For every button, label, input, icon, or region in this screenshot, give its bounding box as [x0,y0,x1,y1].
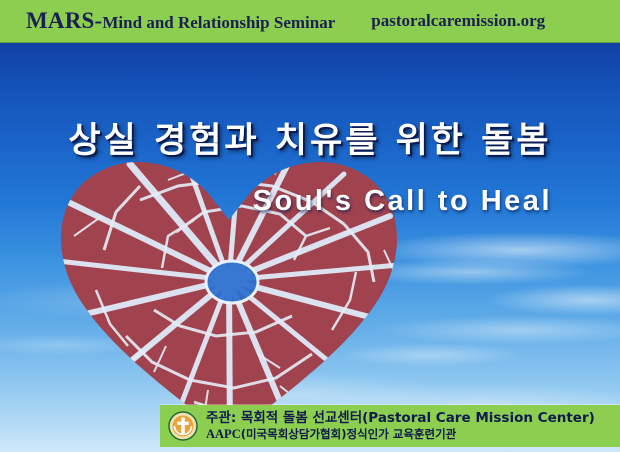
cross-circle-logo-icon [168,411,198,441]
page-subtitle-english: Soul's Call to Heal [0,185,620,218]
brand-title: MARS-Mind and Relationship Seminar [26,8,335,34]
brand-subtitle: Mind and Relationship Seminar [102,13,335,32]
footer-line-accreditation: AAPC(미국목회상담가협회)정식인가 교육훈련기관 [206,427,595,441]
page-title-korean: 상실 경험과 치유를 위한 돌봄 [0,112,620,163]
footer-text-block: 주관: 목회적 돌봄 선교센터(Pastoral Care Mission Ce… [206,411,595,441]
header-bar: MARS-Mind and Relationship Seminar pasto… [0,0,620,43]
presentation-slide: MARS-Mind and Relationship Seminar pasto… [0,0,620,452]
footer-line-organizer: 주관: 목회적 돌봄 선교센터(Pastoral Care Mission Ce… [206,411,595,426]
aapc-abbreviation: AAPC [206,427,241,441]
aapc-description: (미국목회상담가협회)정식인가 교육훈련기관 [241,427,457,441]
brand-main: MARS- [26,8,102,33]
website-url[interactable]: pastoralcaremission.org [371,11,545,31]
footer-bar: 주관: 목회적 돌봄 선교센터(Pastoral Care Mission Ce… [160,405,620,447]
